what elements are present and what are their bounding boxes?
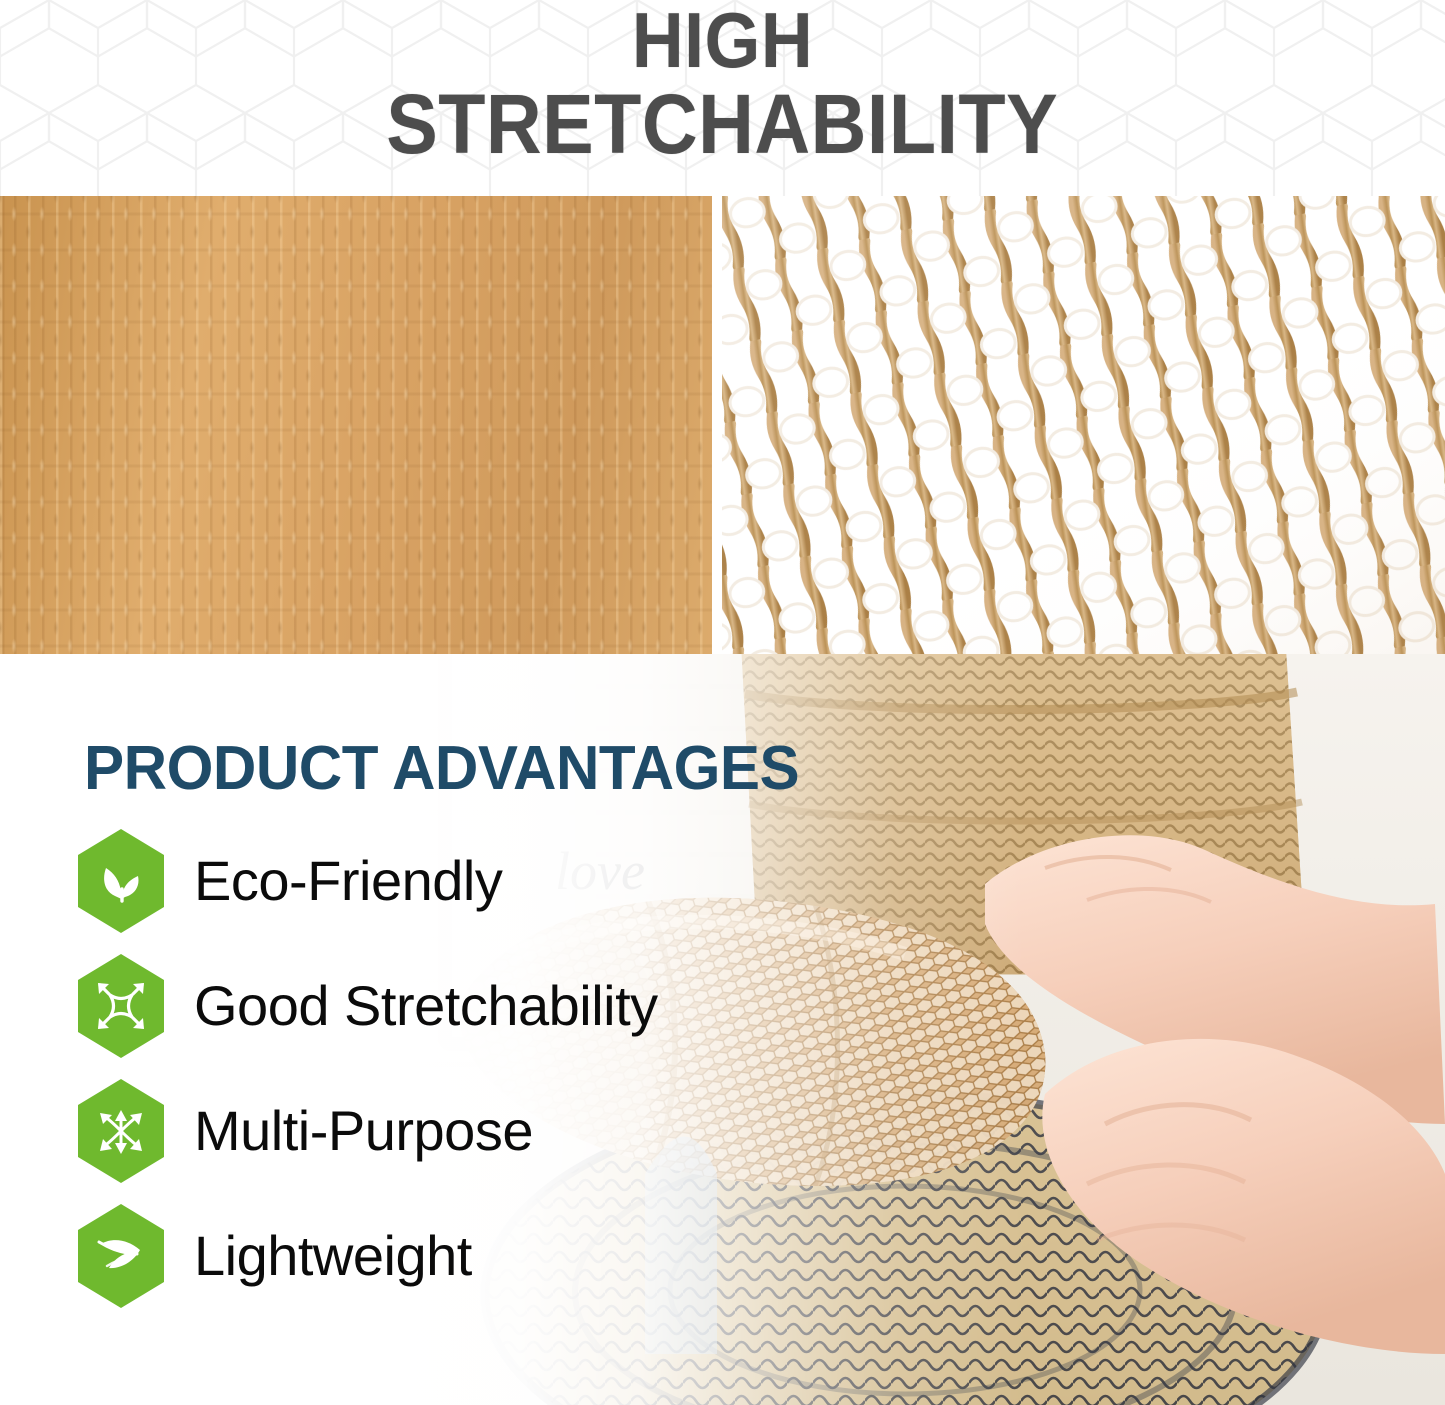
kraft-flat-texture xyxy=(0,196,712,654)
badge-good-stretchability xyxy=(78,954,164,1058)
photo-stretched-honeycomb xyxy=(722,196,1445,654)
advantage-item-multi-purpose: Multi-Purpose xyxy=(78,1078,658,1184)
advantages-section: love xyxy=(0,654,1445,1405)
badge-eco-friendly xyxy=(78,829,164,933)
advantages-list: Eco-Friendly xyxy=(78,828,658,1309)
title-line-one: HIGH xyxy=(632,2,813,79)
advantage-label: Eco-Friendly xyxy=(194,853,502,909)
advantage-item-lightweight: Lightweight xyxy=(78,1203,658,1309)
page-title: HIGH STRETCHABILITY xyxy=(0,0,1445,196)
advantage-item-good-stretchability: Good Stretchability xyxy=(78,953,658,1059)
photo-unstretched-honeycomb xyxy=(0,196,712,654)
title-line-two: STRETCHABILITY xyxy=(387,83,1059,166)
advantage-label: Lightweight xyxy=(194,1228,472,1284)
advantage-item-eco-friendly: Eco-Friendly xyxy=(78,828,658,934)
badge-multi-purpose xyxy=(78,1079,164,1183)
leaf-icon xyxy=(95,855,147,907)
comparison-photo-strip xyxy=(0,196,1445,654)
advantage-label: Multi-Purpose xyxy=(194,1103,533,1159)
arrows-icon xyxy=(94,1104,148,1158)
advantage-label: Good Stretchability xyxy=(194,978,658,1034)
stretch-icon xyxy=(94,979,148,1033)
badge-lightweight xyxy=(78,1204,164,1308)
product-infographic: HIGH STRETCHABILITY xyxy=(0,0,1445,1405)
kraft-mesh-texture xyxy=(722,196,1445,654)
advantages-heading: PRODUCT ADVANTAGES xyxy=(84,733,799,804)
feather-icon xyxy=(93,1228,149,1284)
